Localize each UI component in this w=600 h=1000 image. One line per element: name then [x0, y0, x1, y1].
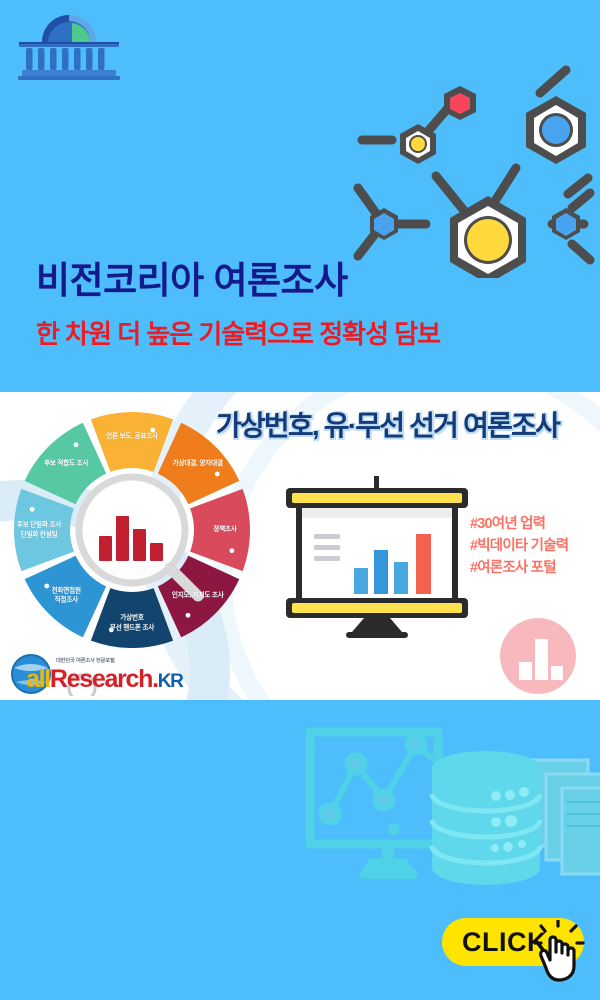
survey-service-wheel: 언론 보도, 공표조사가상대결, 양자대결정책조사인지도, 지지도 조사가상번호…: [14, 412, 264, 662]
logo-word-kr: KR: [158, 671, 183, 692]
banner-headline: 가상번호, 유·무선 선거 여론조사: [216, 404, 559, 444]
wheel-segment-dot: [30, 507, 35, 512]
page-title: 비전코리아 여론조사: [36, 258, 600, 303]
wheel-segment-label: 후보 적합도 조사: [25, 459, 107, 469]
wheel-segment-label: 인지도, 지지도 조사: [157, 591, 239, 601]
page-subtitle: 한 차원 더 높은 기술력으로 정확성 담보: [36, 319, 600, 350]
data-analytics-icon: [290, 718, 600, 900]
wheel-segment-label: 정책조사: [184, 525, 266, 535]
data-analytics-graphic: [290, 718, 600, 900]
pink-chart-badge: [500, 618, 576, 694]
government-building-icon: [14, 12, 124, 82]
hashtag-item-1: #빅데이타 기술력: [470, 535, 568, 557]
logo-word-all: all: [26, 665, 50, 693]
click-button[interactable]: CLICK: [442, 918, 584, 966]
promo-banner[interactable]: 언론 보도, 공표조사가상대결, 양자대결정책조사인지도, 지지도 조사가상번호…: [0, 392, 600, 700]
logo-word-research: Research: [50, 665, 152, 693]
hashtag-item-2: #여론조사 포털: [470, 557, 568, 579]
presentation-board-icon: [282, 472, 480, 647]
wheel-segment-label: 언론 보도, 공표조사: [91, 432, 173, 442]
wheel-segment-label: 전화면접원 직접조사: [25, 586, 107, 605]
site-logo[interactable]: [14, 12, 124, 82]
logo-wordmark[interactable]: allResearch.KR: [26, 667, 183, 692]
molecule-network-graphic: [340, 48, 600, 278]
logo-tagline: 대한민국 여론조사 전문포털: [56, 656, 115, 664]
hand-pointer-icon: [534, 920, 590, 982]
presentation-board: [282, 472, 480, 647]
wheel-segment-dot: [229, 548, 234, 553]
headline-block: 비전코리아 여론조사 한 차원 더 높은 기술력으로 정확성 담보: [0, 258, 600, 350]
bar-chart-icon: [500, 618, 576, 694]
wheel-segment-dot: [186, 613, 191, 618]
wheel-segment-label: 가상대결, 양자대결: [157, 459, 239, 469]
wheel-segment-label: 후보 단일화 조사 단일화 컨설팅: [0, 520, 80, 539]
wheel-segment-label: 가상번호 무선 핸드폰 조사: [91, 613, 173, 632]
wheel-segment-dot: [74, 442, 79, 447]
molecule-network-icon: [340, 48, 600, 278]
hashtag-item-0: #30여년 업력: [470, 513, 568, 535]
hashtag-list: #30여년 업력#빅데이타 기술력#여론조사 포털: [470, 513, 568, 579]
wheel-segment-dot: [215, 472, 220, 477]
